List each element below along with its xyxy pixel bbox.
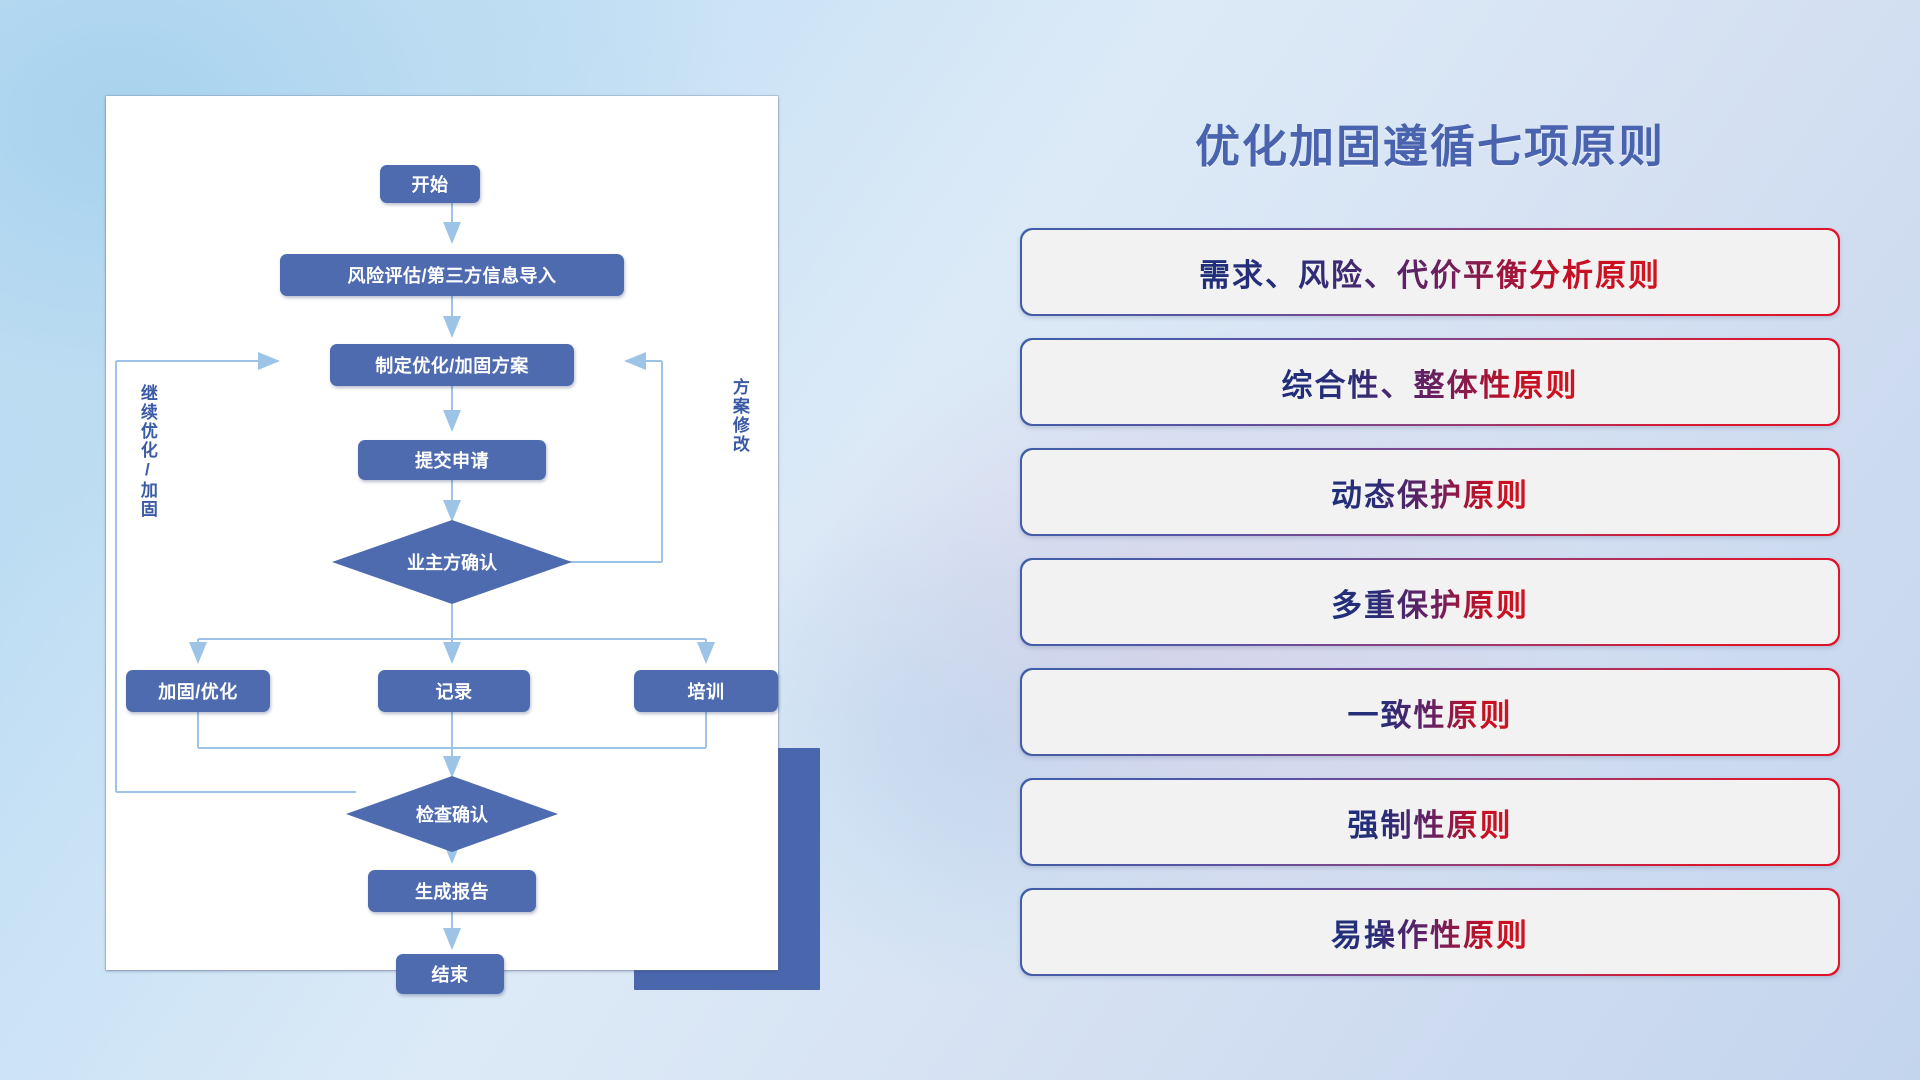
principles-list: 需求、风险、代价平衡分析原则 综合性、整体性原则 动态保护原则 多重保护原则 [1020,228,1840,998]
principle-card-inner: 多重保护原则 [1022,560,1839,645]
flow-node-start[interactable]: 开始 [380,165,480,203]
principle-label: 需求、风险、代价平衡分析原则 [1199,250,1661,295]
principle-card-inner: 强制性原则 [1022,780,1839,865]
principle-card-inner: 动态保护原则 [1022,450,1839,535]
principles-panel: 优化加固遵循七项原则 需求、风险、代价平衡分析原则 综合性、整体性原则 动态保护… [1020,96,1840,996]
flow-node-training[interactable]: 培训 [634,670,778,712]
principle-label: 综合性、整体性原则 [1282,360,1579,405]
slide-canvas: 开始 风险评估/第三方信息导入 制定优化/加固方案 提交申请 业主方确认 加固/… [0,0,1920,1080]
flowchart-card: 开始 风险评估/第三方信息导入 制定优化/加固方案 提交申请 业主方确认 加固/… [106,96,778,970]
flow-node-plan[interactable]: 制定优化/加固方案 [330,344,574,386]
principle-label: 多重保护原则 [1331,580,1529,625]
flow-node-reinforce[interactable]: 加固/优化 [126,670,270,712]
principle-card-inner: 易操作性原则 [1022,890,1839,975]
principle-label: 易操作性原则 [1331,910,1529,955]
principle-label: 强制性原则 [1348,800,1513,845]
principle-card-2[interactable]: 综合性、整体性原则 [1020,338,1840,426]
principle-card-3[interactable]: 动态保护原则 [1020,448,1840,536]
flow-edge-label-plan-revision: 方案修改 [730,378,748,454]
principle-card-inner: 综合性、整体性原则 [1022,340,1839,425]
flow-edge-label-continue-optimize: 继续优化/加固 [138,384,156,519]
principle-label: 动态保护原则 [1331,470,1529,515]
flow-node-end[interactable]: 结束 [396,954,504,994]
principles-title: 优化加固遵循七项原则 [1020,110,1840,175]
flow-node-generate-report[interactable]: 生成报告 [368,870,536,912]
principle-card-1[interactable]: 需求、风险、代价平衡分析原则 [1020,228,1840,316]
principle-card-7[interactable]: 易操作性原则 [1020,888,1840,976]
principle-card-5[interactable]: 一致性原则 [1020,668,1840,756]
flow-node-risk-assessment[interactable]: 风险评估/第三方信息导入 [280,254,624,296]
principle-card-6[interactable]: 强制性原则 [1020,778,1840,866]
principle-label: 一致性原则 [1348,690,1513,735]
flow-node-submit-application[interactable]: 提交申请 [358,440,546,480]
flowchart: 开始 风险评估/第三方信息导入 制定优化/加固方案 提交申请 业主方确认 加固/… [106,96,778,970]
principle-card-inner: 一致性原则 [1022,670,1839,755]
principle-card-4[interactable]: 多重保护原则 [1020,558,1840,646]
flow-node-record[interactable]: 记录 [378,670,530,712]
principle-card-inner: 需求、风险、代价平衡分析原则 [1022,230,1839,315]
